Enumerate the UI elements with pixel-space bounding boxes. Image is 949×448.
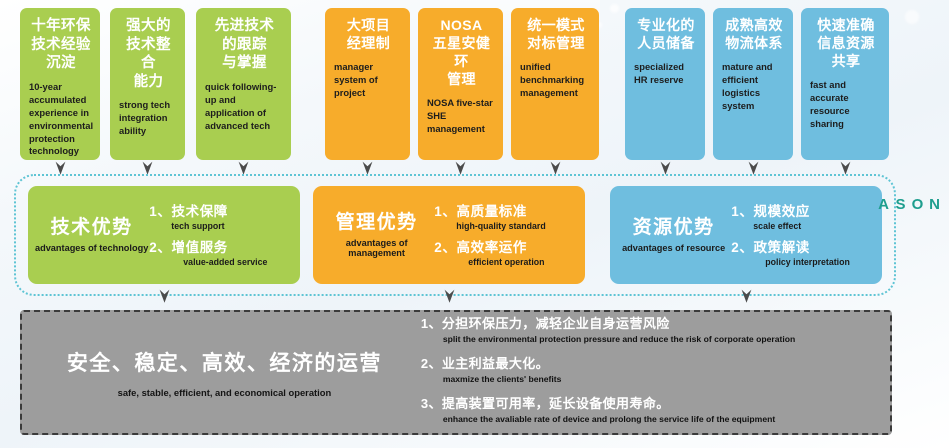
capability-card-management-4[interactable]: 大项目经理制manager system of project — [325, 8, 410, 160]
summary-headline: 安全、稳定、高效、经济的运营 safe, stable, efficient, … — [22, 347, 421, 398]
down-arrow-panel-1 — [159, 289, 170, 304]
card-subtitle-en: quick following-up and application of ad… — [205, 81, 284, 133]
capability-card-technology-2[interactable]: 强大的技术整合能力strong tech integration ability — [110, 8, 185, 160]
capability-card-row: 十年环保技术经验沉淀10-year accumulated experience… — [0, 8, 949, 160]
down-arrow-panel-3 — [741, 289, 752, 304]
advantage-panel-blue[interactable]: 资源优势advantages of resource1、规模效应scale ef… — [610, 186, 882, 284]
panel-title-en: advantages of technology — [34, 243, 149, 253]
summary-item-label-cn: 3、提高装置可用率，延长设备使用寿命。 — [421, 393, 882, 412]
capability-card-technology-3[interactable]: 先进技术的跟踪与掌握quick following-up and applica… — [196, 8, 291, 160]
down-arrow-panel-2 — [444, 289, 455, 304]
card-title-cn: 快速准确信息资源共享 — [810, 17, 882, 71]
panel-title-en: advantages of resource — [616, 243, 731, 253]
panel-item-1: 1、规模效应scale effect — [731, 200, 878, 231]
panel-item-1: 1、技术保障tech support — [149, 200, 296, 231]
panel-item-2: 2、政策解读policy interpretation — [731, 236, 878, 267]
panel-item-list: 1、规模效应scale effect2、政策解读policy interpret… — [731, 198, 882, 272]
capability-card-resource-7[interactable]: 专业化的人员储备specialized HR reserve — [625, 8, 705, 160]
panel-item-label-cn: 2、政策解读 — [731, 236, 878, 256]
operation-summary-box: 安全、稳定、高效、经济的运营 safe, stable, efficient, … — [20, 310, 892, 435]
card-title-cn: 强大的技术整合能力 — [119, 17, 178, 91]
nosa-vertical-label: NOSA — [917, 196, 943, 218]
nosa-letter-a: A — [875, 196, 892, 218]
advantage-panel-green[interactable]: 技术优势advantages of technology1、技术保障tech s… — [28, 186, 300, 284]
panel-title-cn: 管理优势 — [319, 212, 434, 234]
summary-item-label-en: split the environmental protection press… — [421, 334, 882, 344]
card-title-cn: 十年环保技术经验沉淀 — [29, 17, 93, 73]
capability-card-resource-9[interactable]: 快速准确信息资源共享fast and accurate resource sha… — [801, 8, 889, 160]
panel-item-label-en: scale effect — [731, 221, 878, 231]
card-subtitle-en: NOSA five-star SHE management — [427, 97, 496, 136]
panel-title-cn: 资源优势 — [616, 217, 731, 239]
summary-item-2: 2、业主利益最大化。maxmize the clients' benefits — [421, 353, 882, 384]
panel-item-label-cn: 1、规模效应 — [731, 200, 878, 220]
summary-item-label-cn: 1、分担环保压力，减轻企业自身运营风险 — [421, 313, 882, 332]
panel-title-en: advantages of management — [319, 238, 434, 258]
card-title-cn: 专业化的人员储备 — [634, 17, 698, 53]
card-subtitle-en: manager system of project — [334, 61, 403, 100]
summary-item-label-en: enhance the avaliable rate of device and… — [421, 414, 882, 424]
capability-card-technology-1[interactable]: 十年环保技术经验沉淀10-year accumulated experience… — [20, 8, 100, 160]
panel-item-label-en: high-quality standard — [434, 221, 581, 231]
nosa-letter-n: N — [926, 196, 943, 218]
card-subtitle-en: unified benchmarking management — [520, 61, 592, 100]
panel-item-2: 2、高效率运作efficient operation — [434, 236, 581, 267]
panel-heading: 资源优势advantages of resource — [610, 217, 731, 253]
panel-item-label-cn: 2、高效率运作 — [434, 236, 581, 256]
summary-benefit-list: 1、分担环保压力，减轻企业自身运营风险split the environment… — [421, 313, 890, 433]
summary-item-label-en: maxmize the clients' benefits — [421, 374, 882, 384]
card-subtitle-en: specialized HR reserve — [634, 61, 698, 87]
card-title-cn: 统一模式对标管理 — [520, 17, 592, 53]
summary-item-1: 1、分担环保压力，减轻企业自身运营风险split the environment… — [421, 313, 882, 344]
summary-item-label-cn: 2、业主利益最大化。 — [421, 353, 882, 372]
capability-card-management-5[interactable]: NOSA五星安健环管理NOSA five-star SHE management — [418, 8, 503, 160]
panel-item-label-cn: 1、高质量标准 — [434, 200, 581, 220]
summary-title-cn: 安全、稳定、高效、经济的运营 — [28, 347, 421, 377]
card-subtitle-en: mature and efficient logistics system — [722, 61, 786, 113]
capability-card-management-6[interactable]: 统一模式对标管理unified benchmarking management — [511, 8, 599, 160]
panel-item-1: 1、高质量标准high-quality standard — [434, 200, 581, 231]
panel-item-2: 2、增值服务value-added service — [149, 236, 296, 267]
panel-item-label-cn: 1、技术保障 — [149, 200, 296, 220]
panel-item-list: 1、技术保障tech support2、增值服务value-added serv… — [149, 198, 300, 272]
card-subtitle-en: strong tech integration ability — [119, 99, 178, 138]
advantage-panel-orange[interactable]: 管理优势advantages of management1、高质量标准high-… — [313, 186, 585, 284]
nosa-letter-s: S — [892, 196, 909, 218]
panel-heading: 管理优势advantages of management — [313, 212, 434, 258]
panel-item-label-en: tech support — [149, 221, 296, 231]
panel-item-label-cn: 2、增值服务 — [149, 236, 296, 256]
card-title-cn: 成熟高效物流体系 — [722, 17, 786, 53]
panel-item-label-en: efficient operation — [434, 257, 581, 267]
card-title-cn: 先进技术的跟踪与掌握 — [205, 17, 284, 73]
summary-item-3: 3、提高装置可用率，延长设备使用寿命。enhance the avaliable… — [421, 393, 882, 424]
card-subtitle-en: fast and accurate resource sharing — [810, 79, 882, 131]
panel-item-list: 1、高质量标准high-quality standard2、高效率运作effic… — [434, 198, 585, 272]
card-title-cn: 大项目经理制 — [334, 17, 403, 53]
panel-item-label-en: value-added service — [149, 257, 296, 267]
panel-item-label-en: policy interpretation — [731, 257, 878, 267]
nosa-letter-o: O — [909, 196, 926, 218]
panel-heading: 技术优势advantages of technology — [28, 217, 149, 253]
summary-title-en: safe, stable, efficient, and economical … — [28, 387, 421, 398]
capability-card-resource-8[interactable]: 成熟高效物流体系mature and efficient logistics s… — [713, 8, 793, 160]
card-subtitle-en: 10-year accumulated experience in enviro… — [29, 81, 93, 159]
panel-title-cn: 技术优势 — [34, 217, 149, 239]
card-title-cn: NOSA五星安健环管理 — [427, 17, 496, 89]
